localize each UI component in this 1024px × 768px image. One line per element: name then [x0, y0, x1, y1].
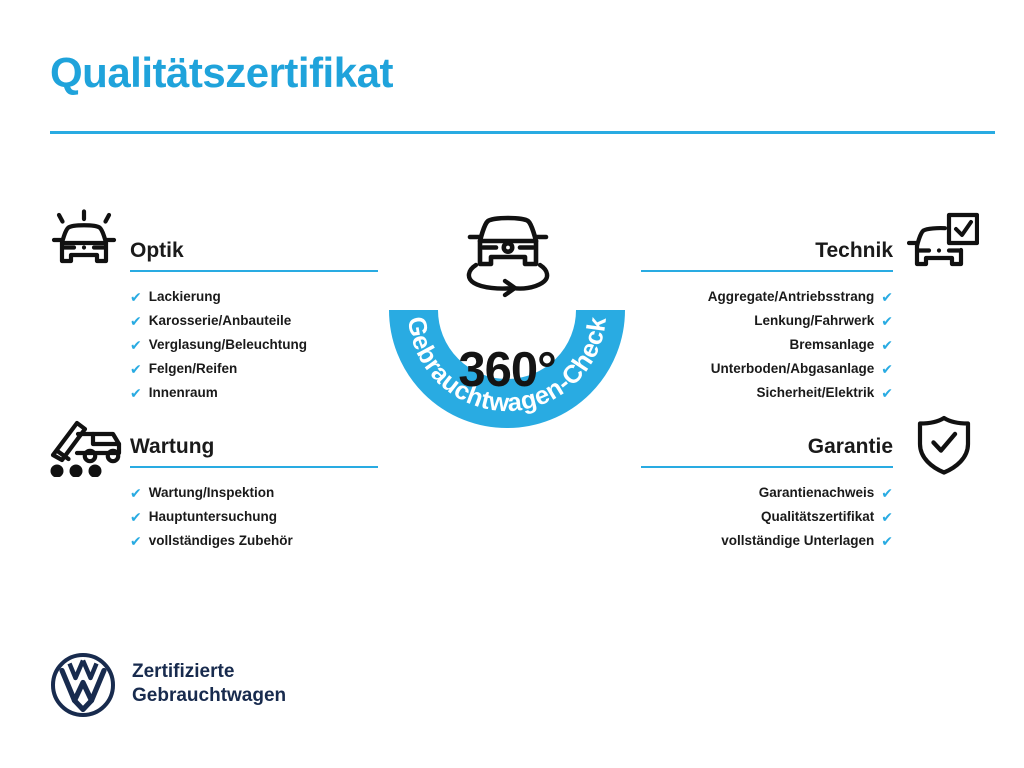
check-icon: ✔: [130, 510, 142, 524]
list-item: ✔Lenkung/Fahrwerk: [641, 309, 893, 333]
section-title-garantie: Garantie: [641, 434, 893, 460]
check-icon: ✔: [130, 386, 142, 400]
car-lift-service-icon: [47, 415, 125, 482]
list-item-label: Wartung/Inspektion: [149, 481, 275, 505]
list-item: ✔Sicherheit/Elektrik: [641, 381, 893, 405]
section-title-wartung: Wartung: [130, 434, 378, 460]
list-item-label: Karosserie/Anbauteile: [149, 309, 292, 333]
section-header: Optik: [130, 238, 378, 272]
section-header: Garantie: [641, 434, 893, 468]
check-icon: ✔: [130, 290, 142, 304]
vw-logo-text: Zertifizierte Gebrauchtwagen: [132, 660, 286, 708]
section-divider: [641, 466, 893, 468]
list-item: ✔Wartung/Inspektion: [130, 481, 378, 505]
list-item: ✔Qualitätszertifikat: [641, 505, 893, 529]
section-optik: Optik ✔Lackierung ✔Karosserie/Anbauteile…: [130, 238, 378, 405]
section-garantie: Garantie ✔Garantienachweis ✔Qualitätszer…: [641, 434, 893, 553]
check-icon: ✔: [881, 290, 893, 304]
checklist-optik: ✔Lackierung ✔Karosserie/Anbauteile ✔Verg…: [130, 285, 378, 405]
vw-logo-line2: Gebrauchtwagen: [132, 684, 286, 708]
check-icon: ✔: [881, 314, 893, 328]
check-icon: ✔: [130, 534, 142, 548]
vw-logo-icon: [50, 652, 116, 718]
car-checkbox-icon: [907, 212, 979, 279]
list-item: ✔Aggregate/Antriebsstrang: [641, 285, 893, 309]
list-item-label: Innenraum: [149, 381, 218, 405]
section-wartung: Wartung ✔Wartung/Inspektion ✔Hauptunters…: [130, 434, 378, 553]
list-item-label: Unterboden/Abgasanlage: [711, 357, 875, 381]
vw-logo-line1: Zertifizierte: [132, 660, 286, 684]
list-item-label: Sicherheit/Elektrik: [756, 381, 874, 405]
list-item-label: Bremsanlage: [789, 333, 874, 357]
list-item: ✔Innenraum: [130, 381, 378, 405]
section-title-technik: Technik: [641, 238, 893, 264]
badge-360-gebrauchtwagen-check: Gebrauchtwagen-Check 360°: [374, 202, 640, 484]
list-item: ✔vollständiges Zubehör: [130, 529, 378, 553]
checklist-wartung: ✔Wartung/Inspektion ✔Hauptuntersuchung ✔…: [130, 481, 378, 553]
check-icon: ✔: [881, 362, 893, 376]
list-item-label: Aggregate/Antriebsstrang: [708, 285, 875, 309]
list-item: ✔Unterboden/Abgasanlage: [641, 357, 893, 381]
checklist-garantie: ✔Garantienachweis ✔Qualitätszertifikat ✔…: [641, 481, 893, 553]
vw-certified-logo: Zertifizierte Gebrauchtwagen: [50, 648, 390, 724]
check-icon: ✔: [130, 362, 142, 376]
section-title-optik: Optik: [130, 238, 378, 264]
list-item: ✔Bremsanlage: [641, 333, 893, 357]
section-divider: [641, 270, 893, 272]
list-item-label: Lackierung: [149, 285, 221, 309]
list-item-label: Hauptuntersuchung: [149, 505, 277, 529]
section-divider: [130, 466, 378, 468]
shield-check-icon: [915, 414, 973, 481]
check-icon: ✔: [881, 510, 893, 524]
list-item-label: Lenkung/Fahrwerk: [754, 309, 874, 333]
title-divider: [50, 131, 995, 134]
list-item: ✔Karosserie/Anbauteile: [130, 309, 378, 333]
car-shine-icon: [47, 208, 121, 275]
list-item: ✔Garantienachweis: [641, 481, 893, 505]
check-icon: ✔: [881, 386, 893, 400]
check-icon: ✔: [130, 338, 142, 352]
section-header: Wartung: [130, 434, 378, 468]
check-icon: ✔: [130, 314, 142, 328]
list-item: ✔Felgen/Reifen: [130, 357, 378, 381]
section-divider: [130, 270, 378, 272]
check-icon: ✔: [881, 486, 893, 500]
list-item: ✔Hauptuntersuchung: [130, 505, 378, 529]
checklist-technik: ✔Aggregate/Antriebsstrang ✔Lenkung/Fahrw…: [641, 285, 893, 405]
list-item: ✔vollständige Unterlagen: [641, 529, 893, 553]
check-icon: ✔: [130, 486, 142, 500]
badge-value: 360°: [374, 342, 640, 398]
list-item: ✔Verglasung/Beleuchtung: [130, 333, 378, 357]
check-icon: ✔: [881, 534, 893, 548]
list-item-label: Garantienachweis: [759, 481, 875, 505]
list-item-label: Qualitätszertifikat: [761, 505, 874, 529]
list-item-label: vollständige Unterlagen: [721, 529, 874, 553]
list-item-label: Felgen/Reifen: [149, 357, 238, 381]
check-icon: ✔: [881, 338, 893, 352]
section-technik: Technik ✔Aggregate/Antriebsstrang ✔Lenku…: [641, 238, 893, 405]
page-title: Qualitätszertifikat: [50, 50, 393, 96]
list-item: ✔Lackierung: [130, 285, 378, 309]
list-item-label: Verglasung/Beleuchtung: [149, 333, 307, 357]
certificate-page: Qualitätszertifikat Optik ✔Lackierung ✔K…: [0, 0, 1024, 768]
list-item-label: vollständiges Zubehör: [149, 529, 293, 553]
section-header: Technik: [641, 238, 893, 272]
